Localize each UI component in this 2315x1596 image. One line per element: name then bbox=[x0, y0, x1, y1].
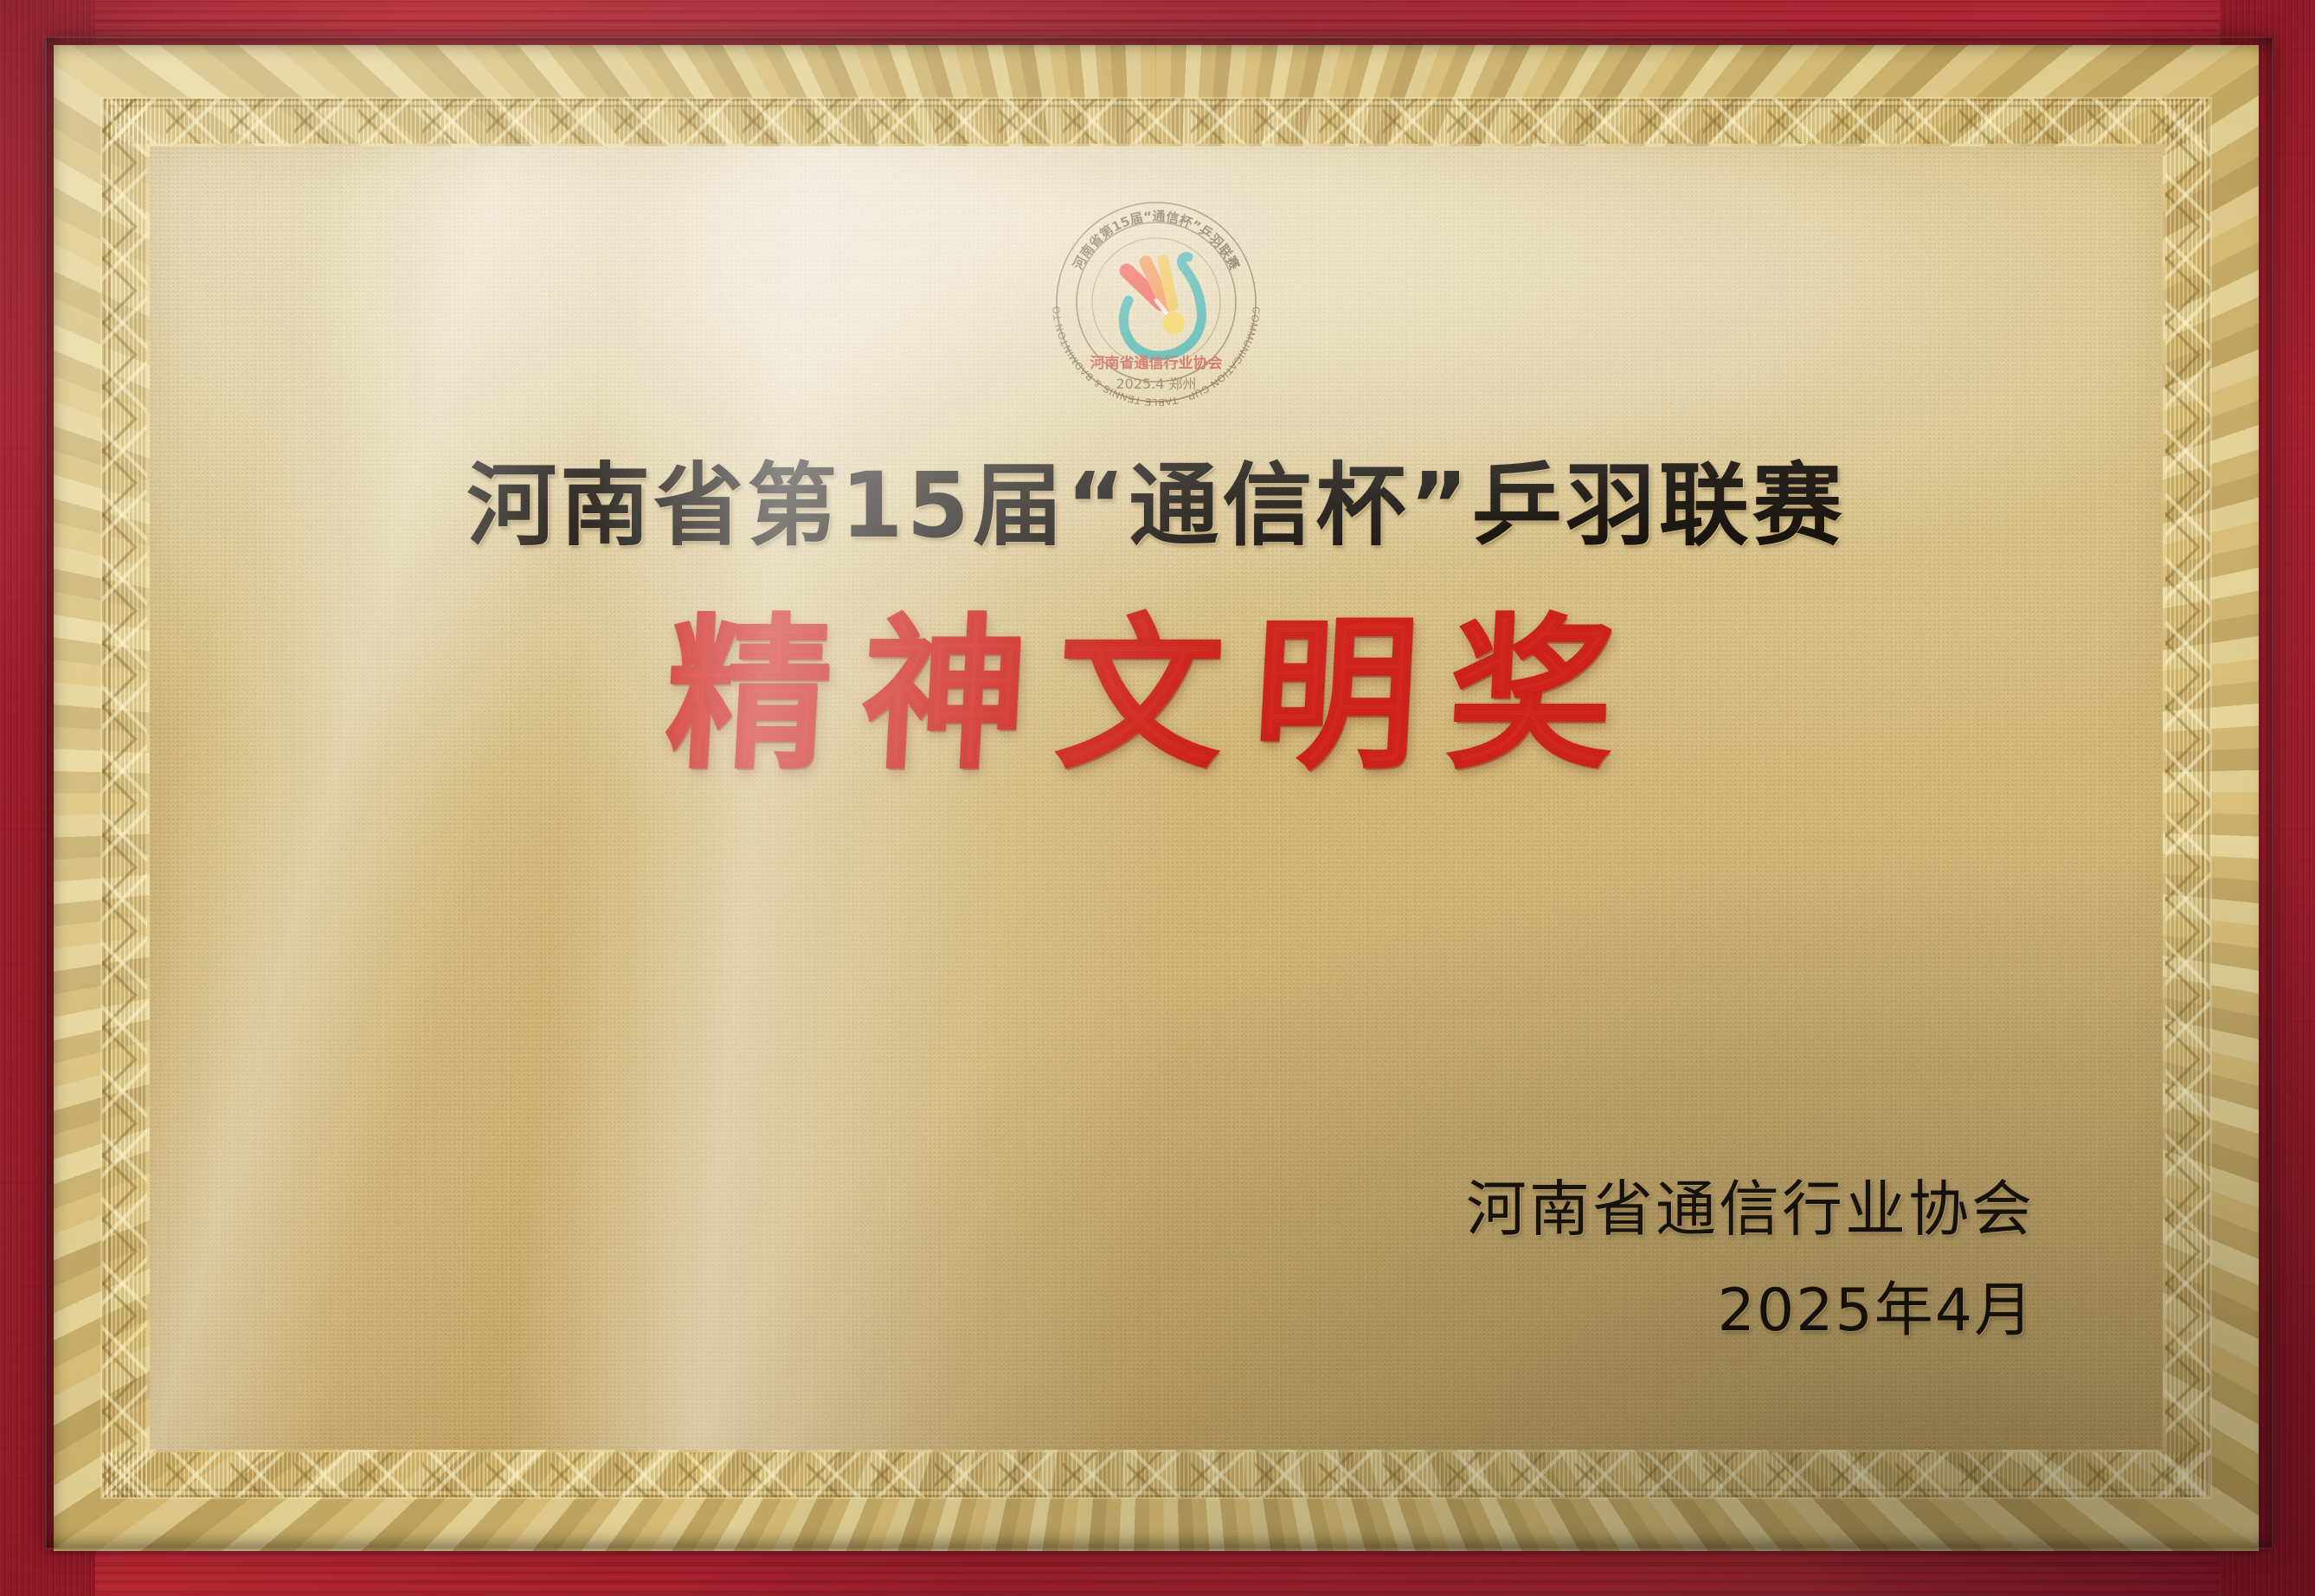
diamond-motif-right bbox=[2165, 99, 2210, 1497]
signature-organization: 河南省通信行业协会 bbox=[1466, 1161, 2035, 1248]
plaque-content: THE 15TH · COMMUNICATION CUP · TABLE TEN… bbox=[150, 146, 2163, 1450]
award-title: 精神文明奖 bbox=[150, 562, 2163, 800]
logo-inner-ring-text: 河南省第15届“通信杯”乒羽联赛 bbox=[1070, 209, 1243, 274]
plaque-signature: 河南省通信行业协会 2025年4月 bbox=[1466, 1161, 2035, 1348]
logo-shuttlecock-ball bbox=[1162, 312, 1185, 334]
logo-shuttlecock-feathers bbox=[1127, 261, 1173, 318]
logo-organization-text: 河南省通信行业协会 bbox=[1090, 354, 1223, 372]
tournament-logo: THE 15TH · COMMUNICATION CUP · TABLE TEN… bbox=[1052, 198, 1260, 406]
gold-plate: THE 15TH · COMMUNICATION CUP · TABLE TEN… bbox=[54, 45, 2259, 1551]
plaque-text-field: THE 15TH · COMMUNICATION CUP · TABLE TEN… bbox=[150, 146, 2163, 1450]
diamond-motif-left bbox=[102, 99, 147, 1497]
plaque-heading: 河南省第15届“通信杯”乒羽联赛 bbox=[150, 432, 2163, 563]
diamond-motif-top bbox=[102, 99, 2210, 144]
award-plaque-image: THE 15TH · COMMUNICATION CUP · TABLE TEN… bbox=[0, 0, 2315, 1596]
signature-date: 2025年4月 bbox=[1466, 1262, 2035, 1348]
logo-date-city-text: 2025.4 郑州 bbox=[1116, 376, 1196, 392]
diamond-motif-bottom bbox=[102, 1452, 2210, 1497]
